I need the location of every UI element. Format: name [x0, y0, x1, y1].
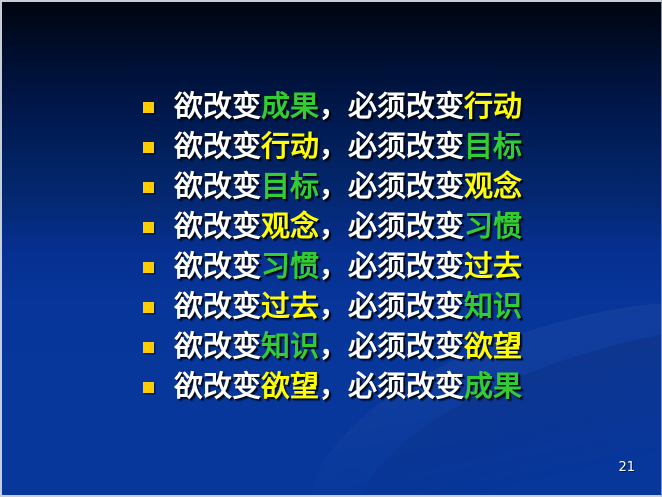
text-segment-white: ，必须改变 [319, 249, 464, 283]
page-number: 21 [618, 460, 635, 475]
text-segment-white: ，必须改变 [319, 169, 464, 203]
text-segment-white: ，必须改变 [319, 369, 464, 403]
list-item-text: 欲改变行动，必须改变目标 [174, 132, 522, 161]
square-bullet-icon [143, 102, 154, 113]
list-item: 欲改变成果，必须改变行动 [2, 86, 662, 126]
text-segment-white: 欲改变 [174, 129, 261, 163]
list-item-text: 欲改变目标，必须改变观念 [174, 172, 522, 201]
text-segment-white: 欲改变 [174, 369, 261, 403]
text-segment-white: 欲改变 [174, 169, 261, 203]
list-item: 欲改变观念，必须改变习惯 [2, 206, 662, 246]
list-item: 欲改变欲望，必须改变成果 [2, 366, 662, 406]
text-segment-yellow: 观念 [261, 209, 319, 243]
list-item-text: 欲改变知识，必须改变欲望 [174, 332, 522, 361]
text-segment-yellow: 行动 [261, 129, 319, 163]
text-segment-green: 目标 [464, 129, 522, 163]
square-bullet-icon [143, 182, 154, 193]
slide-bullet-list: 欲改变成果，必须改变行动欲改变行动，必须改变目标欲改变目标，必须改变观念欲改变观… [2, 86, 662, 406]
text-segment-white: ，必须改变 [319, 129, 464, 163]
list-item-text: 欲改变习惯，必须改变过去 [174, 252, 522, 281]
text-segment-white: ，必须改变 [319, 89, 464, 123]
text-segment-green: 知识 [464, 289, 522, 323]
list-item-text: 欲改变成果，必须改变行动 [174, 92, 522, 121]
list-item: 欲改变习惯，必须改变过去 [2, 246, 662, 286]
text-segment-white: 欲改变 [174, 289, 261, 323]
text-segment-white: ，必须改变 [319, 209, 464, 243]
text-segment-white: 欲改变 [174, 249, 261, 283]
text-segment-yellow: 过去 [464, 249, 522, 283]
text-segment-white: 欲改变 [174, 209, 261, 243]
text-segment-yellow: 欲望 [464, 329, 522, 363]
text-segment-yellow: 行动 [464, 89, 522, 123]
text-segment-white: ，必须改变 [319, 289, 464, 323]
text-segment-yellow: 欲望 [261, 369, 319, 403]
text-segment-white: 欲改变 [174, 329, 261, 363]
square-bullet-icon [143, 302, 154, 313]
text-segment-yellow: 过去 [261, 289, 319, 323]
square-bullet-icon [143, 382, 154, 393]
text-segment-white: 欲改变 [174, 89, 261, 123]
square-bullet-icon [143, 262, 154, 273]
text-segment-green: 习惯 [464, 209, 522, 243]
text-segment-green: 习惯 [261, 249, 319, 283]
list-item-text: 欲改变观念，必须改变习惯 [174, 212, 522, 241]
list-item: 欲改变行动，必须改变目标 [2, 126, 662, 166]
square-bullet-icon [143, 142, 154, 153]
presentation-slide: 欲改变成果，必须改变行动欲改变行动，必须改变目标欲改变目标，必须改变观念欲改变观… [0, 0, 662, 497]
text-segment-yellow: 观念 [464, 169, 522, 203]
list-item: 欲改变目标，必须改变观念 [2, 166, 662, 206]
square-bullet-icon [143, 342, 154, 353]
text-segment-green: 成果 [261, 89, 319, 123]
text-segment-green: 目标 [261, 169, 319, 203]
list-item-text: 欲改变过去，必须改变知识 [174, 292, 522, 321]
text-segment-green: 成果 [464, 369, 522, 403]
text-segment-green: 知识 [261, 329, 319, 363]
text-segment-white: ，必须改变 [319, 329, 464, 363]
square-bullet-icon [143, 222, 154, 233]
list-item: 欲改变过去，必须改变知识 [2, 286, 662, 326]
list-item-text: 欲改变欲望，必须改变成果 [174, 372, 522, 401]
list-item: 欲改变知识，必须改变欲望 [2, 326, 662, 366]
